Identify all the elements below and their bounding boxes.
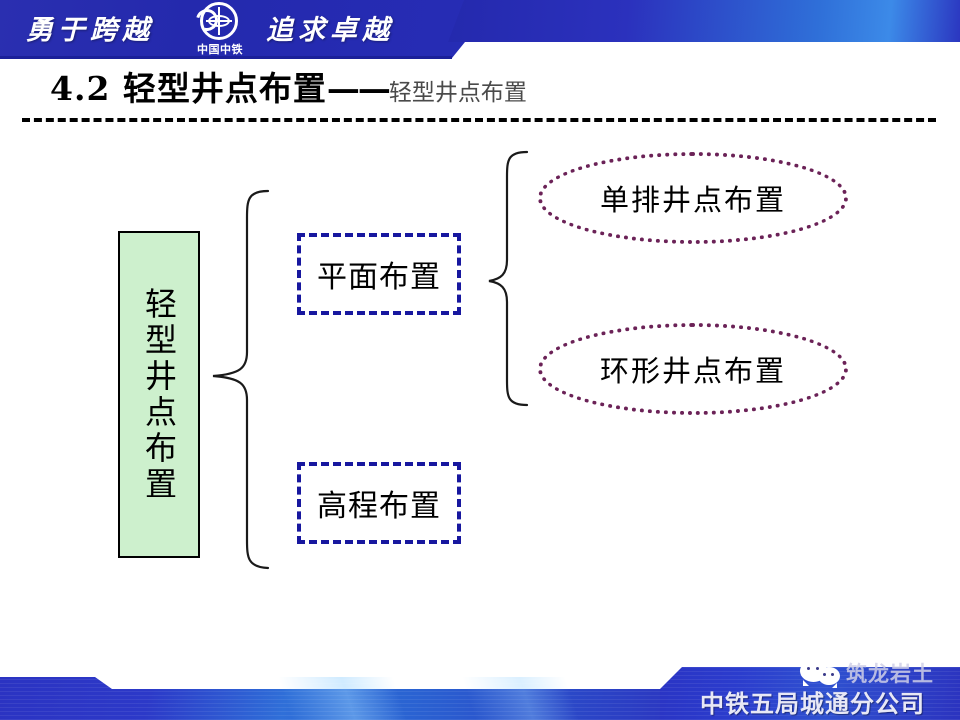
footer-band-left: [0, 677, 680, 720]
diagram-root-node: 轻型井点布置: [118, 231, 200, 558]
diagram-node-ring-shape-label: 环形井点布置: [600, 348, 786, 390]
diagram-node-plan-layout: 平面布置: [297, 233, 461, 315]
diagram-node-ring-shape: 环形井点布置: [538, 323, 848, 415]
diagram-node-elevation-layout: 高程布置: [297, 462, 461, 544]
brace-root: [213, 191, 268, 568]
footer-company-name: 中铁五局城通分公司: [700, 684, 925, 719]
brace-plan: [489, 152, 527, 405]
diagram-root-label: 轻型井点布置: [143, 287, 175, 503]
diagram-node-plan-layout-label: 平面布置: [317, 252, 441, 296]
diagram-canvas: 轻型井点布置 平面布置 高程布置 单排井点布置 环形井点布置: [0, 0, 960, 720]
diagram-node-single-row: 单排井点布置: [538, 152, 848, 244]
diagram-node-single-row-label: 单排井点布置: [600, 177, 786, 219]
wechat-icon: [800, 660, 840, 686]
diagram-node-elevation-layout-label: 高程布置: [317, 481, 441, 525]
